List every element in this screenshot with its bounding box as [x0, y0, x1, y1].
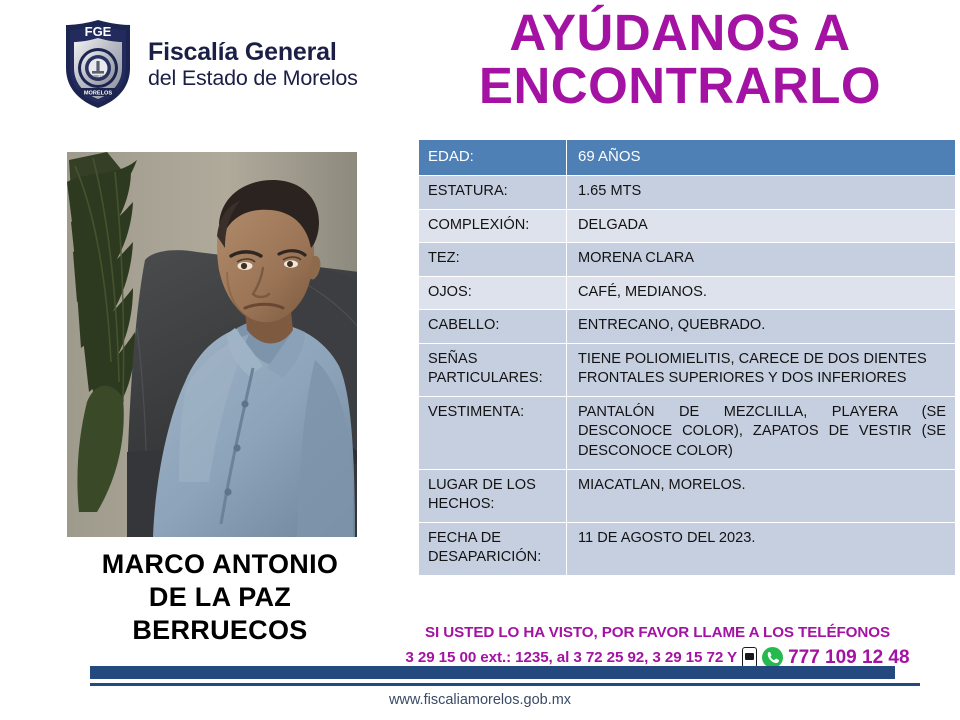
- detail-label: LUGAR DE LOS HECHOS:: [419, 469, 567, 522]
- org-title-line2: del Estado de Morelos: [148, 66, 358, 90]
- person-name-line3: BERRUECOS: [30, 614, 410, 647]
- table-row: OJOS: CAFÉ, MEDIANOS.: [419, 276, 956, 310]
- detail-label: CABELLO:: [419, 310, 567, 344]
- detail-label: ESTATURA:: [419, 176, 567, 210]
- fge-shield-badge-icon: MORELOS FGE MORELOS: [62, 18, 134, 110]
- detail-value: 11 DE AGOSTO DEL 2023.: [567, 522, 956, 575]
- detail-value: CAFÉ, MEDIANOS.: [567, 276, 956, 310]
- page-title: AYÚDANOS A ENCONTRARLO: [400, 6, 960, 112]
- contact-instruction: SI USTED LO HA VISTO, POR FAVOR LLAME A …: [355, 622, 960, 644]
- person-name-line2: DE LA PAZ: [30, 581, 410, 614]
- table-row: VESTIMENTA: PANTALÓN DE MEZCLILLA, PLAYE…: [419, 396, 956, 469]
- detail-value: MIACATLAN, MORELOS.: [567, 469, 956, 522]
- svg-text:MORELOS: MORELOS: [90, 75, 108, 79]
- table-row: COMPLEXIÓN: DELGADA: [419, 209, 956, 243]
- table-row: LUGAR DE LOS HECHOS: MIACATLAN, MORELOS.: [419, 469, 956, 522]
- detail-label: EDAD:: [419, 140, 567, 176]
- table-row: ESTATURA: 1.65 MTS: [419, 176, 956, 210]
- detail-value: TIENE POLIOMIELITIS, CARECE DE DOS DIENT…: [567, 343, 956, 396]
- detail-value: 69 AÑOS: [567, 140, 956, 176]
- table-row: CABELLO: ENTRECANO, QUEBRADO.: [419, 310, 956, 344]
- organization-name: Fiscalía General del Estado de Morelos: [148, 38, 358, 90]
- svg-text:FGE: FGE: [85, 24, 112, 39]
- table-row: EDAD: 69 AÑOS: [419, 140, 956, 176]
- detail-value: DELGADA: [567, 209, 956, 243]
- person-details-table: EDAD: 69 AÑOS ESTATURA: 1.65 MTS COMPLEX…: [418, 139, 956, 576]
- svg-text:MORELOS: MORELOS: [84, 90, 113, 96]
- detail-label: SEÑAS PARTICULARES:: [419, 343, 567, 396]
- person-name-line1: MARCO ANTONIO: [30, 548, 410, 581]
- detail-value: MORENA CLARA: [567, 243, 956, 277]
- person-name: MARCO ANTONIO DE LA PAZ BERRUECOS: [30, 548, 410, 647]
- table-row: FECHA DE DESAPARICIÓN: 11 DE AGOSTO DEL …: [419, 522, 956, 575]
- fge-logo-block: MORELOS FGE MORELOS Fiscalía General del…: [62, 18, 358, 110]
- detail-label: VESTIMENTA:: [419, 396, 567, 469]
- detail-label: FECHA DE DESAPARICIÓN:: [419, 522, 567, 575]
- footer-bar-thick: [90, 666, 895, 679]
- footer-bar-thin: [90, 683, 920, 686]
- detail-label: COMPLEXIÓN:: [419, 209, 567, 243]
- detail-value: PANTALÓN DE MEZCLILLA, PLAYERA (SE DESCO…: [567, 396, 956, 469]
- missing-person-photo: [67, 152, 357, 537]
- contact-block: SI USTED LO HA VISTO, POR FAVOR LLAME A …: [355, 622, 960, 672]
- footer-website-url: www.fiscaliamorelos.gob.mx: [0, 692, 960, 708]
- detail-value: ENTRECANO, QUEBRADO.: [567, 310, 956, 344]
- poster-header: MORELOS FGE MORELOS Fiscalía General del…: [0, 0, 960, 132]
- detail-label: OJOS:: [419, 276, 567, 310]
- org-title-line1: Fiscalía General: [148, 38, 358, 66]
- table-row: TEZ: MORENA CLARA: [419, 243, 956, 277]
- detail-label: TEZ:: [419, 243, 567, 277]
- detail-value: 1.65 MTS: [567, 176, 956, 210]
- table-row: SEÑAS PARTICULARES: TIENE POLIOMIELITIS,…: [419, 343, 956, 396]
